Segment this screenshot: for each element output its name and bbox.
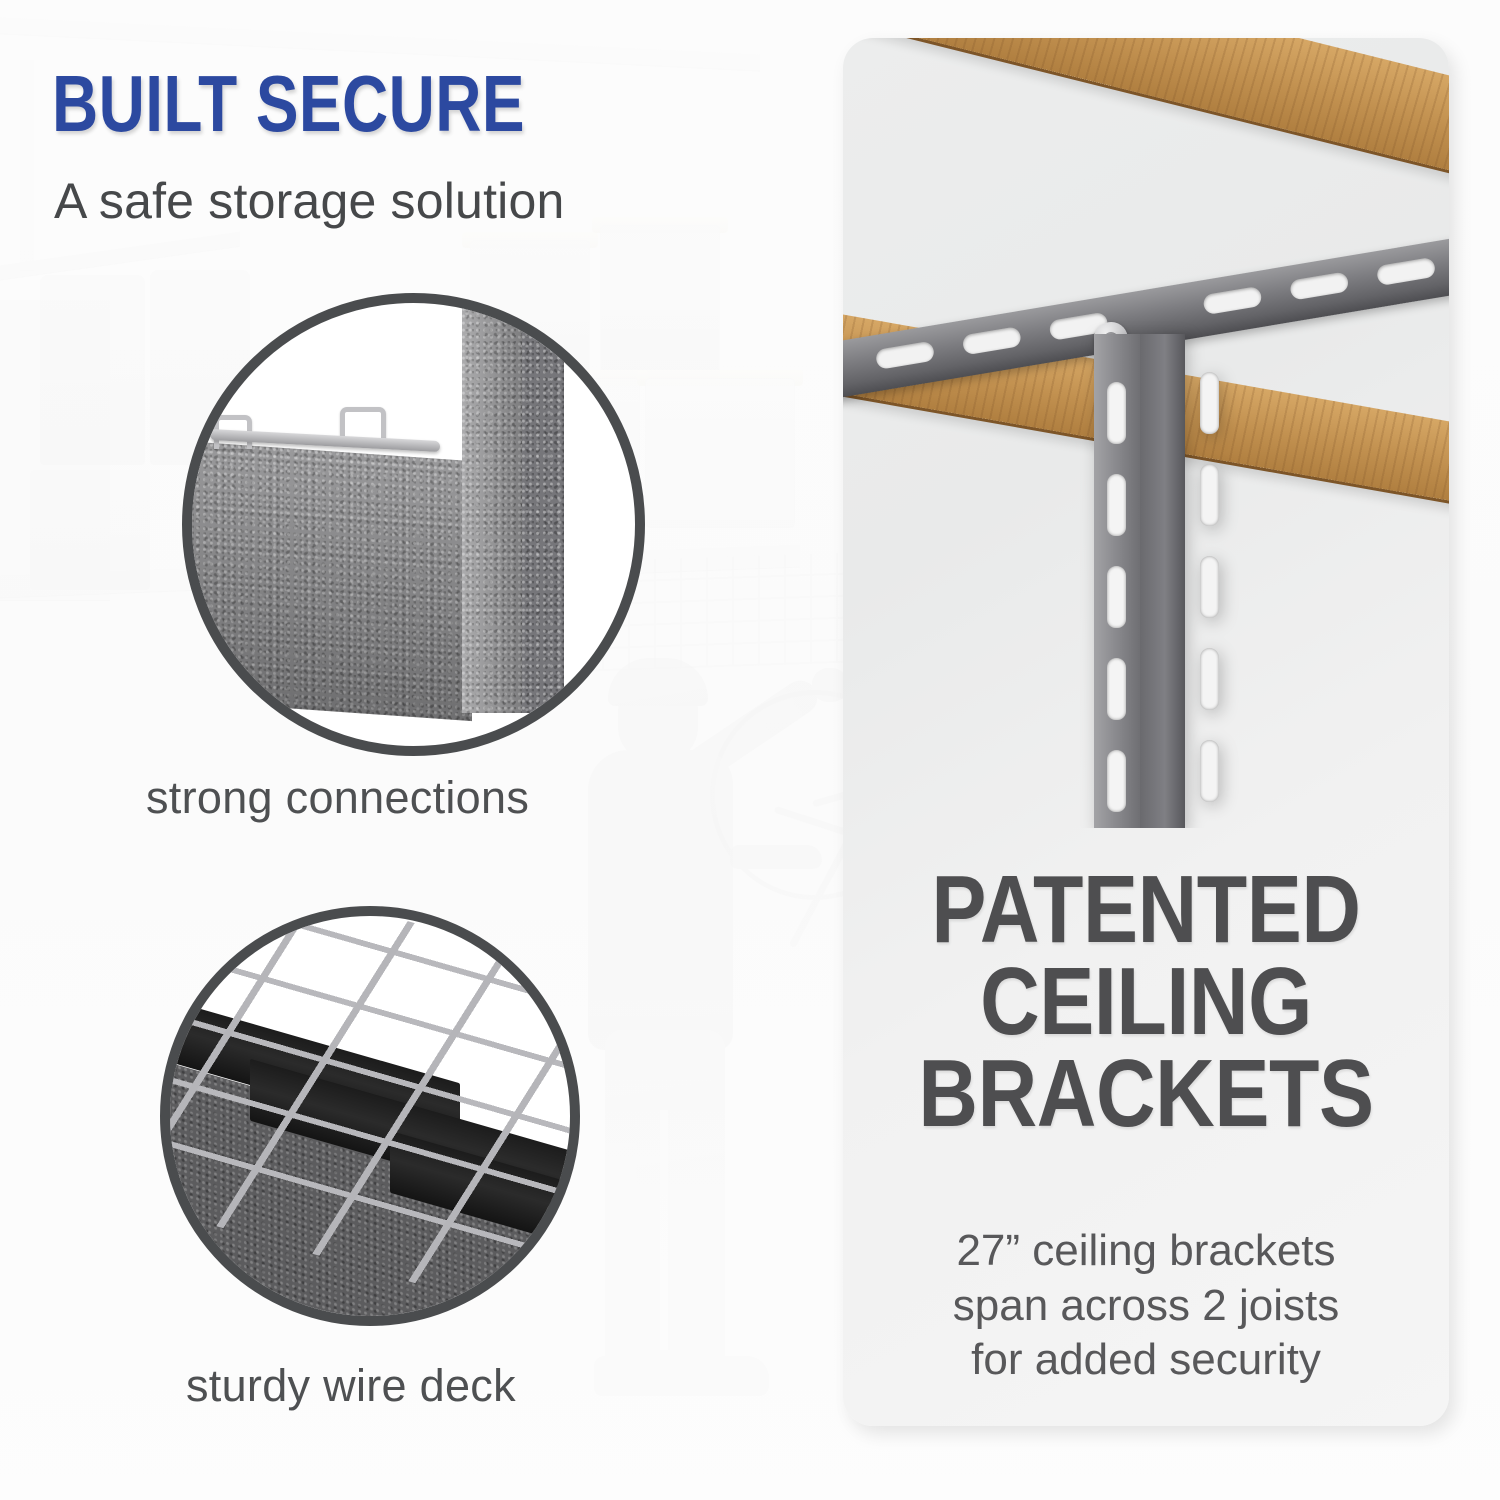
- vertical-keyhole-post: [1093, 334, 1185, 828]
- ceiling-bracket-photo: [843, 38, 1449, 828]
- inset-caption-strong-connections: strong connections: [146, 772, 529, 824]
- page-subtitle: A safe storage solution: [54, 172, 564, 230]
- panel-title: PATENTED CEILING BRACKETS: [885, 864, 1406, 1140]
- panel-title-line-3: BRACKETS: [885, 1048, 1406, 1140]
- panel-subtitle: 27” ceiling brackets span across 2 joist…: [843, 1224, 1449, 1388]
- panel-subtitle-line-1: 27” ceiling brackets: [843, 1224, 1449, 1279]
- inset-photo-strong-connections: [182, 293, 645, 756]
- post-flange: [1140, 334, 1185, 828]
- post-face: [1094, 334, 1140, 828]
- panel-subtitle-line-3: for added security: [843, 1333, 1449, 1388]
- panel-title-line-1: PATENTED: [885, 864, 1406, 956]
- beam-plate: [182, 441, 472, 721]
- inset-caption-wire-deck: sturdy wire deck: [186, 1360, 516, 1412]
- right-feature-panel: PATENTED CEILING BRACKETS 27” ceiling br…: [843, 38, 1449, 1426]
- panel-subtitle-line-2: span across 2 joists: [843, 1279, 1449, 1334]
- page-title: BUILT SECURE: [52, 66, 525, 142]
- panel-title-line-2: CEILING: [885, 956, 1406, 1048]
- left-column: BUILT SECURE A safe storage solution str…: [0, 0, 840, 1500]
- wood-joist-upper: [843, 38, 1449, 186]
- post-flange: [522, 293, 564, 713]
- inset-photo-wire-deck: [160, 906, 580, 1326]
- upright-post: [462, 293, 522, 713]
